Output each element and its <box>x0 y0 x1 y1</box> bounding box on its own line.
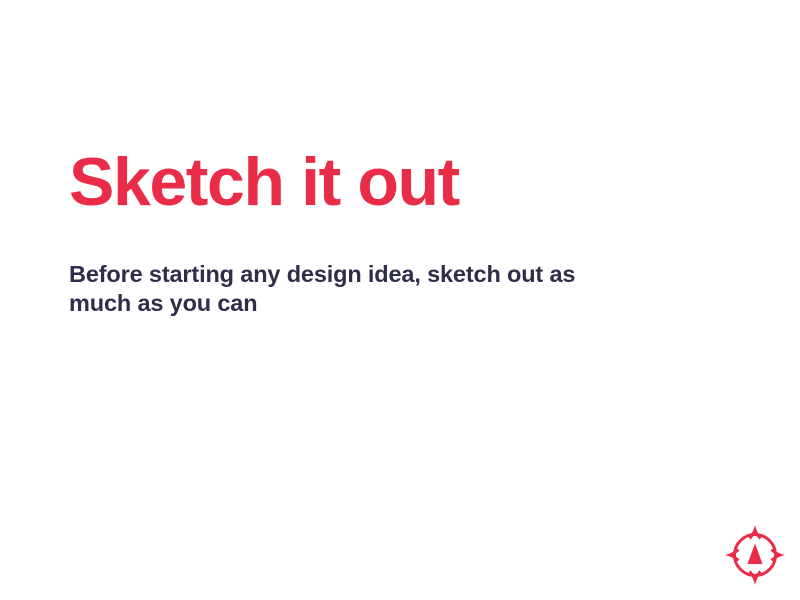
page-title: Sketch it out <box>69 148 689 216</box>
slide-content-block: Sketch it out Before starting any design… <box>69 148 689 318</box>
compass-icon <box>725 525 785 585</box>
slide-subtitle: Before starting any design idea, sketch … <box>69 216 599 318</box>
slide-canvas: Sketch it out Before starting any design… <box>0 0 800 600</box>
compass-logo <box>725 525 785 585</box>
